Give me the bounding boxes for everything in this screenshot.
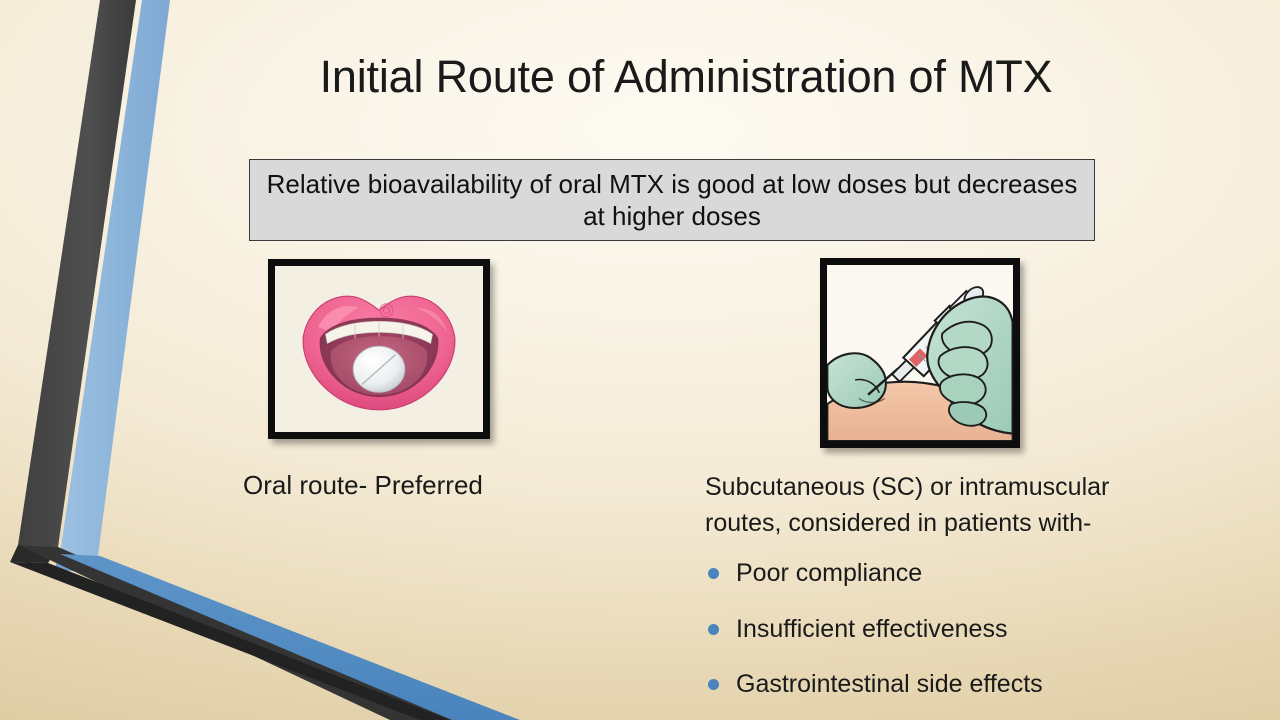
list-item-label: Poor compliance <box>736 559 922 587</box>
dark-band-upper <box>10 0 136 563</box>
callout-text: Relative bioavailability of oral MTX is … <box>250 168 1094 233</box>
bullet-dot-icon <box>708 568 719 579</box>
list-item: Insufficient effectiveness <box>700 616 1220 643</box>
bullet-dot-icon <box>708 624 719 635</box>
sc-route-paragraph: Subcutaneous (SC) or intramuscular route… <box>705 470 1223 541</box>
blue-band-lower <box>60 554 520 720</box>
oral-route-caption: Oral route- Preferred <box>243 470 543 501</box>
sc-indication-bullet-list: Poor compliance Insufficient effectivene… <box>700 560 1220 720</box>
list-item: Poor compliance <box>700 560 1220 587</box>
sc-paragraph-line-1: Subcutaneous (SC) or intramuscular <box>705 473 1109 501</box>
callout-box: Relative bioavailability of oral MTX is … <box>249 159 1095 241</box>
slide: Initial Route of Administration of MTX R… <box>0 0 1280 720</box>
list-item-label: Gastrointestinal side effects <box>736 670 1043 698</box>
slide-title: Initial Route of Administration of MTX <box>236 52 1136 102</box>
blue-band-upper <box>54 0 170 572</box>
sc-paragraph-line-2: routes, considered in patients with- <box>705 506 1223 542</box>
open-mouth-with-pill-image <box>268 259 490 439</box>
list-item-label: Insufficient effectiveness <box>736 615 1007 643</box>
dark-band-lower <box>10 545 460 720</box>
bullet-dot-icon <box>708 679 719 690</box>
subcutaneous-injection-image <box>820 258 1020 448</box>
list-item: Gastrointestinal side effects <box>700 671 1220 698</box>
